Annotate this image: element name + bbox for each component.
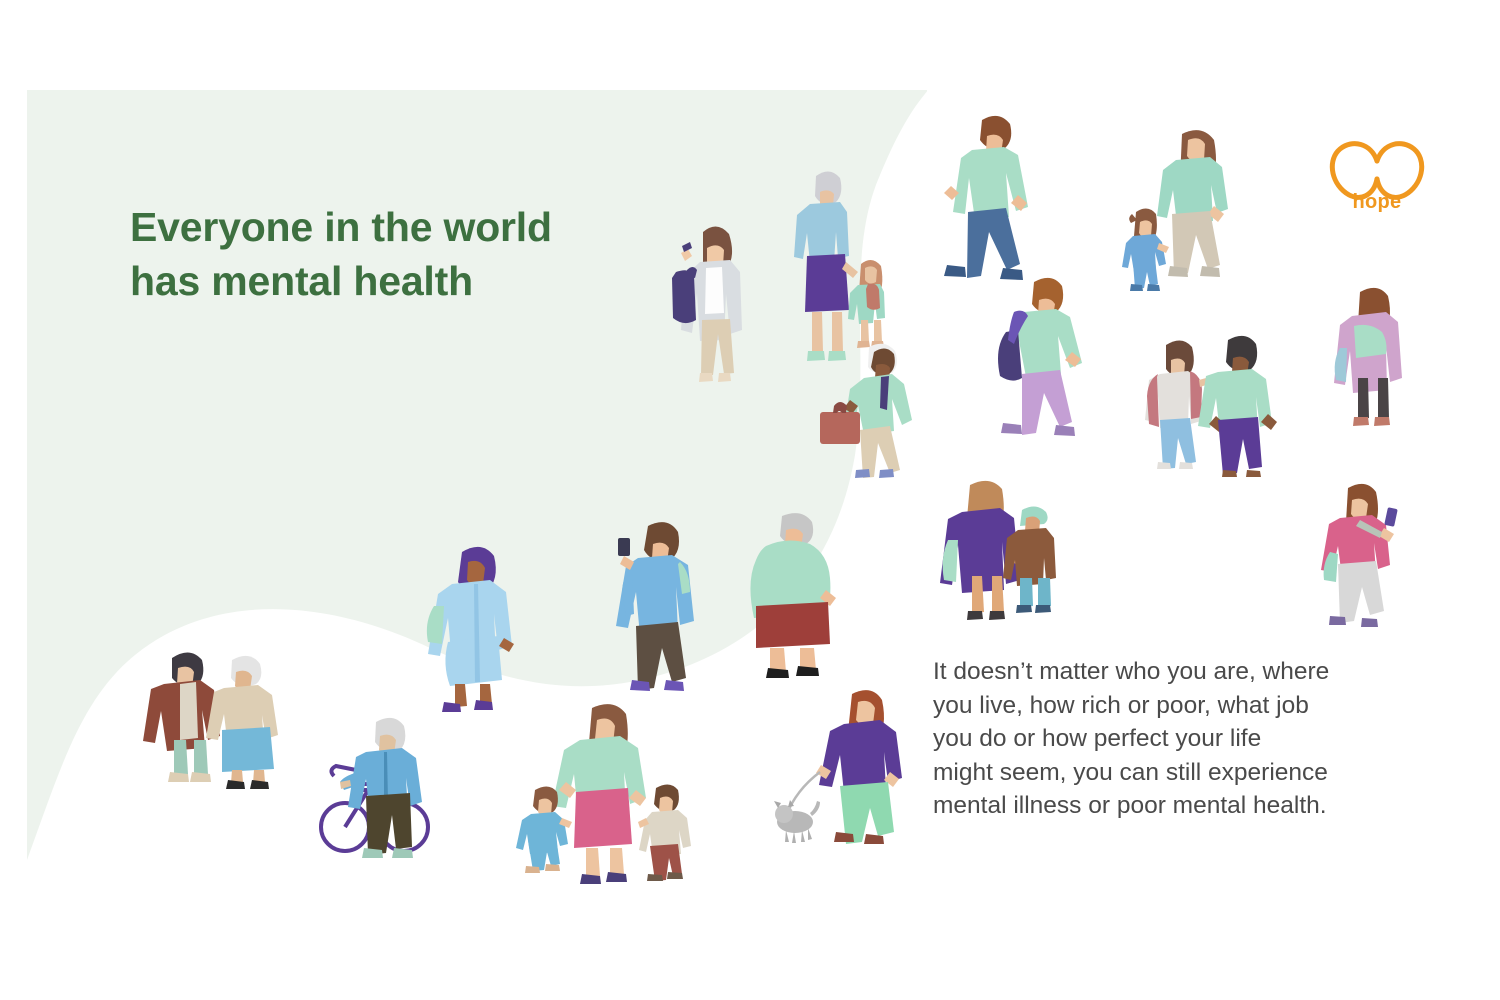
- page-title: Everyone in the world has mental health: [130, 200, 690, 308]
- people-illustration: [0, 0, 1500, 1000]
- body-line-4: might seem, you can still experience: [933, 756, 1433, 790]
- headline-line-2: has mental health: [130, 254, 690, 308]
- slide-canvas: Everyone in the world has mental health …: [0, 0, 1500, 1000]
- figure-mother-with-two-children: [516, 704, 691, 884]
- hope-wordmark: hope: [1322, 191, 1432, 214]
- figure-walking-man-denim-jeans: [944, 116, 1028, 280]
- dog: [774, 800, 820, 843]
- figure-man-with-backpack: [998, 278, 1082, 436]
- figure-elderly-man-with-bicycle: [321, 718, 428, 858]
- figure-woman-lilac-coat-back: [1334, 288, 1402, 426]
- body-line-1: It doesn’t matter who you are, where: [933, 655, 1433, 689]
- figure-man-blue-shirt-phone: [616, 522, 694, 691]
- body-line-2: you live, how rich or poor, what job: [933, 689, 1433, 723]
- figure-man-with-briefcase: [820, 344, 912, 478]
- figure-woman-purple-dress-with-child: [940, 481, 1056, 620]
- figure-woman-walking-dog: [774, 690, 902, 844]
- body-paragraph: It doesn’t matter who you are, where you…: [933, 655, 1433, 823]
- figure-two-people-talking: [1145, 336, 1277, 477]
- figure-mother-and-daughter-walking: [1122, 130, 1228, 291]
- figure-grandmother-and-child: [794, 171, 885, 361]
- figure-elderly-couple-left: [143, 652, 278, 789]
- figure-plus-size-woman-mint-top: [750, 513, 836, 678]
- figure-woman-pink-top-phone: [1321, 484, 1398, 627]
- headline-line-1: Everyone in the world: [130, 200, 690, 254]
- body-line-3: you do or how perfect your life: [933, 722, 1433, 756]
- body-line-5: mental illness or poor mental health.: [933, 789, 1433, 823]
- figure-woman-blue-coat: [427, 547, 514, 712]
- hope-logo: hope: [1322, 133, 1432, 233]
